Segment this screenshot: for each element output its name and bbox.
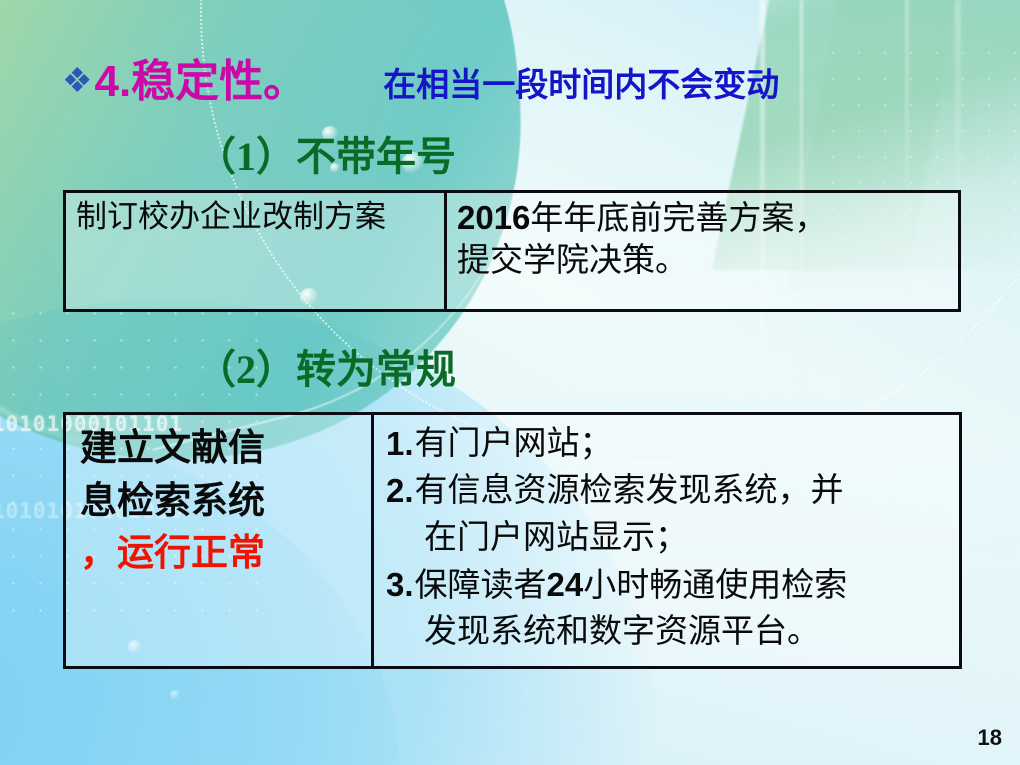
year-value: 2016 xyxy=(457,199,530,236)
table-one-detail-cell: 2016年年底前完善方案， 提交学院决策。 xyxy=(446,192,960,311)
page-number: 18 xyxy=(978,725,1002,751)
table-row: 建立文献信 息检索系统 ，运行正常 1. 有门户网站； 2. 有信息资源检索发现… xyxy=(65,414,961,668)
list-item: 1. 有门户网站； xyxy=(386,421,949,468)
list-item: 3. 保障读者24小时畅通使用检索 xyxy=(386,562,949,610)
list-item-continuation: 发现系统和数字资源平台。 xyxy=(386,609,949,656)
list-item: 2. 有信息资源检索发现系统，并 xyxy=(386,468,949,515)
diamond-bullet-icon: ❖ xyxy=(62,65,92,99)
list-item-number: 1. xyxy=(386,421,414,468)
list-item-text: 有门户网站； xyxy=(415,421,949,468)
task-line-2: 息检索系统 xyxy=(80,476,365,529)
hours-value: 24 xyxy=(547,566,584,603)
page-title: 4.稳定性。 xyxy=(94,60,307,104)
table-two-criteria-cell: 1. 有门户网站； 2. 有信息资源检索发现系统，并 在门户网站显示； 3. 保… xyxy=(373,414,961,668)
section-two-title: （2）转为常规 xyxy=(196,337,456,395)
table-one-detail-line-2: 提交学院决策。 xyxy=(457,240,950,282)
list-item-text: 有信息资源检索发现系统，并 xyxy=(415,468,949,515)
table-row: 制订校办企业改制方案 2016年年底前完善方案， 提交学院决策。 xyxy=(65,192,960,311)
list-item-text: 保障读者24小时畅通使用检索 xyxy=(415,562,949,610)
table-section-two: 建立文献信 息检索系统 ，运行正常 1. 有门户网站； 2. 有信息资源检索发现… xyxy=(63,412,962,669)
table-two-task-cell: 建立文献信 息检索系统 ，运行正常 xyxy=(65,414,373,668)
task-line-1: 建立文献信 xyxy=(80,423,365,476)
heading-note: 在相当一段时间内不会变动 xyxy=(383,58,779,106)
task-status-text: ，运行正常 xyxy=(80,528,365,581)
list-item-text-post: 小时畅通使用检索 xyxy=(583,568,847,604)
list-item-number: 3. xyxy=(386,562,414,609)
table-section-one: 制订校办企业改制方案 2016年年底前完善方案， 提交学院决策。 xyxy=(63,190,961,312)
table-one-task-cell: 制订校办企业改制方案 xyxy=(65,192,446,311)
list-item-continuation: 在门户网站显示； xyxy=(386,515,949,562)
slide-canvas: 10101000101101 10101010101010 1011010101… xyxy=(0,0,1020,765)
year-suffix: 年年底前完善方案， xyxy=(530,201,827,237)
list-item-number: 2. xyxy=(386,468,414,515)
list-item-text-pre: 保障读者 xyxy=(415,568,547,604)
table-one-detail-line-1: 2016年年底前完善方案， xyxy=(457,197,950,240)
section-one-title: （1）不带年号 xyxy=(196,124,456,182)
slide-heading: ❖ 4.稳定性。 在相当一段时间内不会变动 xyxy=(62,58,962,106)
